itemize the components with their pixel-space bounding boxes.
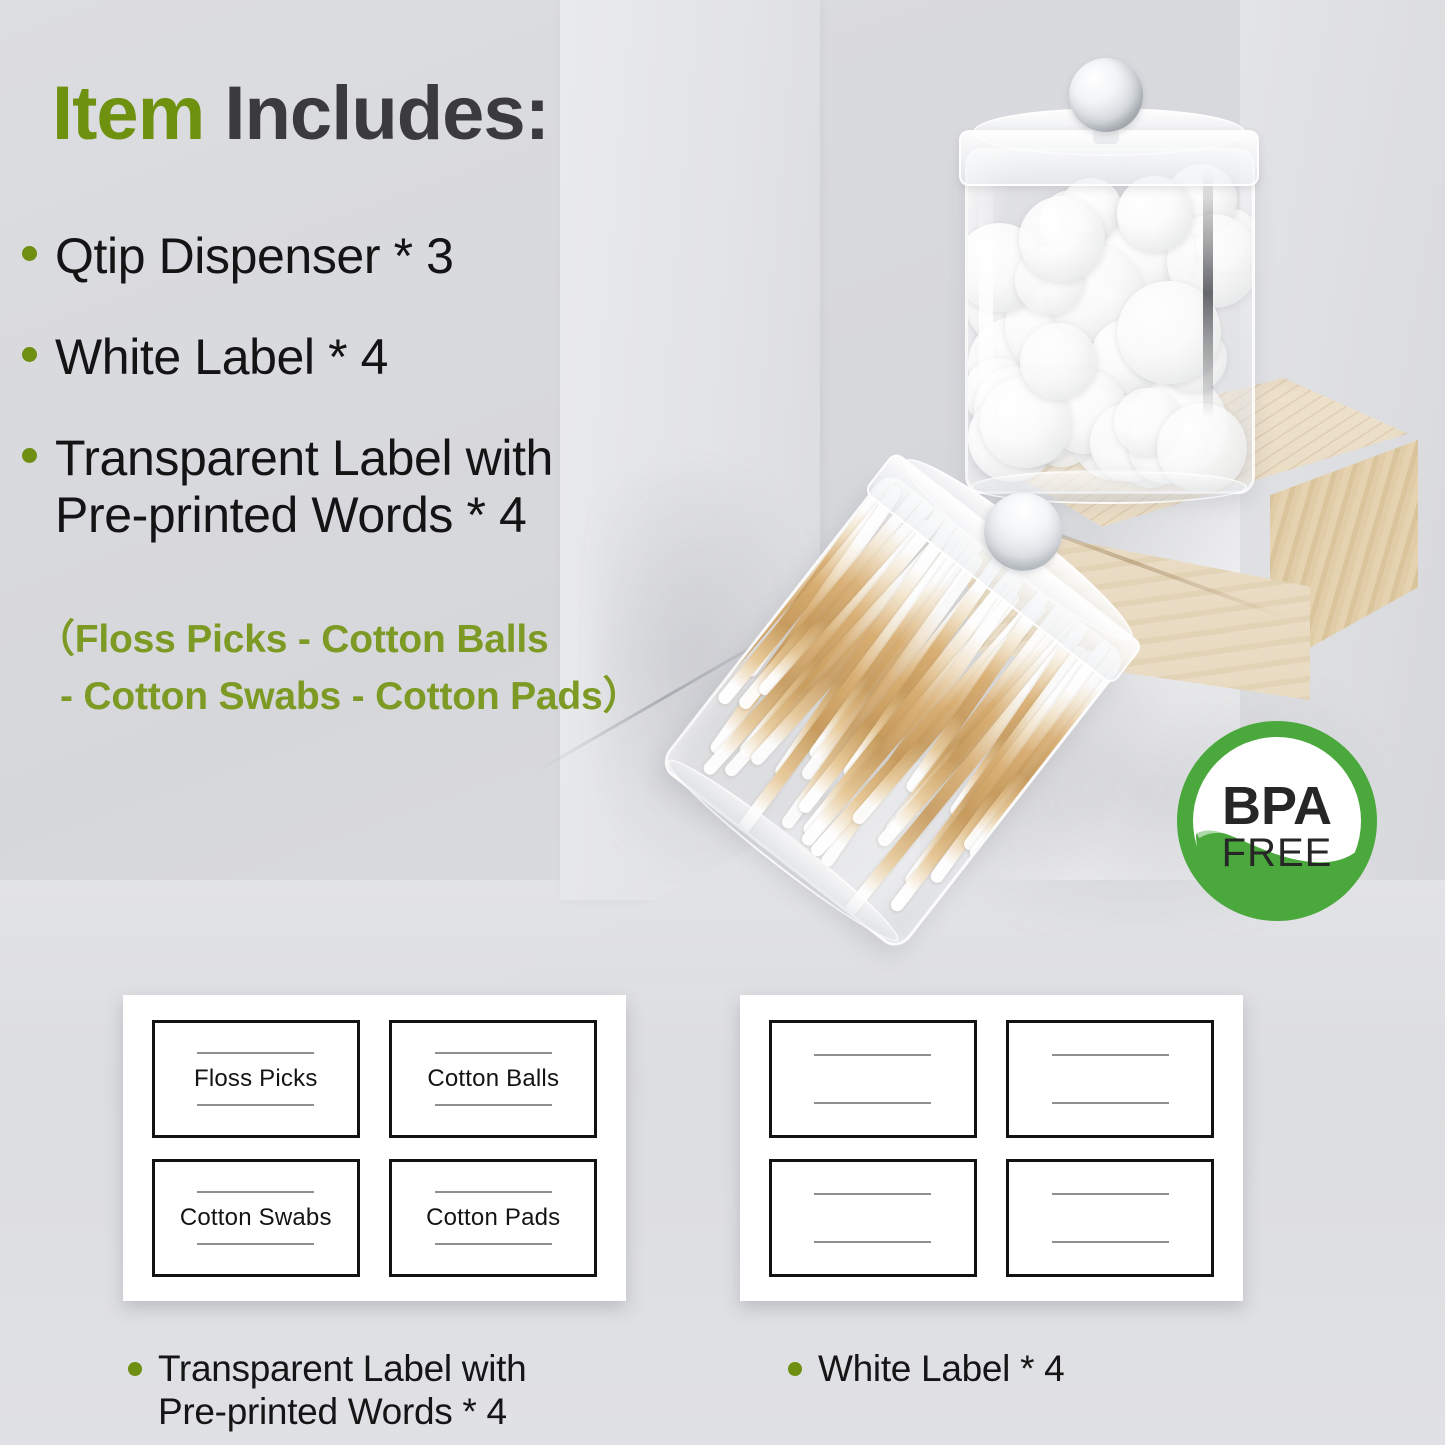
label-rule-bottom — [197, 1243, 314, 1245]
caption-text: White Label * 4 — [818, 1348, 1064, 1391]
label-card-text: Cotton Swabs — [180, 1204, 332, 1232]
bullet-dot-icon — [128, 1362, 142, 1376]
label-card-text: Floss Picks — [194, 1065, 318, 1093]
jar-highlight-left — [979, 172, 993, 462]
label-card — [769, 1159, 977, 1277]
label-rule-top — [814, 1054, 931, 1056]
label-card: Cotton Swabs — [152, 1159, 360, 1277]
caption-transparent-label: Transparent Label withPre-printed Words … — [128, 1348, 526, 1434]
bpa-line-1: BPA — [1222, 776, 1332, 836]
bullet-dot-icon — [788, 1362, 802, 1376]
transparent-label-sheet: Floss Picks Cotton Balls Cotton Swabs — [123, 995, 626, 1301]
label-rule-top — [435, 1191, 552, 1193]
list-item: White Label * 4 — [12, 329, 672, 386]
list-item-label: Transparent Label withPre-printed Words … — [55, 430, 553, 544]
bullet-dot-icon — [22, 448, 37, 463]
jar-knob-upright — [1069, 58, 1143, 132]
label-cell: Cotton Swabs — [141, 1152, 371, 1283]
note-line-2: - Cotton Swabs - Cotton Pads） — [36, 669, 676, 726]
item-includes-list: Qtip Dispenser * 3 White Label * 4 Trans… — [12, 228, 672, 588]
label-cell: Floss Picks — [141, 1013, 371, 1144]
label-rule-top — [197, 1191, 314, 1193]
label-rule-bottom — [197, 1104, 314, 1106]
jar-highlight-right — [1203, 168, 1213, 418]
label-rule-bottom — [435, 1104, 552, 1106]
list-item-label: White Label * 4 — [55, 329, 388, 386]
label-rule-top — [814, 1193, 931, 1195]
label-card — [769, 1020, 977, 1138]
label-cell — [996, 1013, 1226, 1144]
page-title-rest: Includes: — [204, 71, 549, 156]
label-cell: Cotton Pads — [379, 1152, 609, 1283]
caption-white-label: White Label * 4 — [788, 1348, 1064, 1391]
label-card: Floss Picks — [152, 1020, 360, 1138]
label-rule-bottom — [1052, 1102, 1169, 1104]
label-rule-top — [197, 1052, 314, 1054]
label-card-text: Cotton Balls — [427, 1065, 559, 1093]
cotton-ball — [1019, 196, 1105, 282]
cotton-ball — [1117, 176, 1193, 252]
label-cell — [996, 1152, 1226, 1283]
preprinted-words-note: （Floss Picks - Cotton Balls - Cotton Swa… — [36, 612, 676, 725]
white-label-sheet — [740, 995, 1243, 1301]
bpa-free-badge: BPA FREE — [1172, 716, 1382, 926]
note-line-1: （Floss Picks - Cotton Balls — [36, 618, 549, 661]
label-cell — [758, 1013, 988, 1144]
page-title: Item Includes: — [52, 76, 549, 152]
label-rule-bottom — [814, 1241, 931, 1243]
page-title-accent: Item — [52, 71, 204, 156]
label-card-text: Cotton Pads — [426, 1204, 560, 1232]
label-card — [1006, 1020, 1214, 1138]
label-rule-bottom — [435, 1243, 552, 1245]
qtip-dispenser-upright — [957, 52, 1257, 492]
label-cell — [758, 1152, 988, 1283]
bullet-dot-icon — [22, 246, 37, 261]
label-card — [1006, 1159, 1214, 1277]
bpa-line-2: FREE — [1222, 831, 1333, 875]
list-item-label: Qtip Dispenser * 3 — [55, 228, 454, 285]
label-rule-bottom — [814, 1102, 931, 1104]
label-rule-top — [1052, 1193, 1169, 1195]
cotton-ball — [1020, 323, 1098, 401]
label-card: Cotton Balls — [389, 1020, 597, 1138]
label-card: Cotton Pads — [389, 1159, 597, 1277]
label-cell: Cotton Balls — [379, 1013, 609, 1144]
label-rule-bottom — [1052, 1241, 1169, 1243]
list-item: Transparent Label withPre-printed Words … — [12, 430, 672, 544]
list-item: Qtip Dispenser * 3 — [12, 228, 672, 285]
label-rule-top — [1052, 1054, 1169, 1056]
label-rule-top — [435, 1052, 552, 1054]
caption-text: Transparent Label withPre-printed Words … — [158, 1348, 526, 1434]
infographic-canvas: Item Includes: Qtip Dispenser * 3 White … — [0, 0, 1445, 1445]
bullet-dot-icon — [22, 347, 37, 362]
